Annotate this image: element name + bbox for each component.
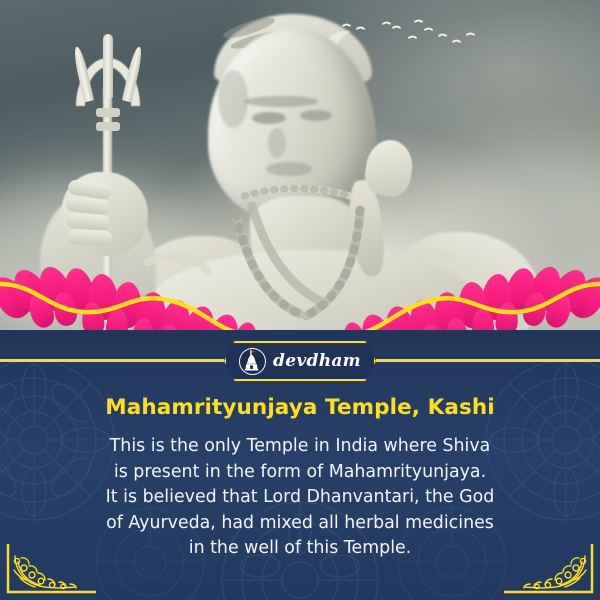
- description-line: is present in the form of Mahamrityunjay…: [65, 460, 535, 486]
- mandala-corner-flourish: [6, 542, 98, 594]
- brand-badge[interactable]: devdham: [224, 341, 376, 381]
- badge-connector-bar: [376, 359, 600, 362]
- badge-connector-bar: [0, 359, 224, 362]
- description-text: This is the only Temple in India where S…: [65, 434, 535, 562]
- description-line: It is believed that Lord Dhanvantari, th…: [65, 485, 535, 511]
- brand-name: devdham: [273, 351, 361, 371]
- description-line: in the well of this Temple.: [65, 536, 535, 562]
- description-line: of Ayurveda, had mixed all herbal medici…: [65, 511, 535, 537]
- page-title: Mahamrityunjaya Temple, Kashi: [0, 395, 600, 420]
- devotional-info-card: devdham Mahamrityunjaya Temple, Kashi Th…: [0, 0, 600, 600]
- description-line: This is the only Temple in India where S…: [65, 434, 535, 460]
- mandala-corner-flourish: [502, 542, 594, 594]
- temple-dome-icon: [239, 348, 266, 375]
